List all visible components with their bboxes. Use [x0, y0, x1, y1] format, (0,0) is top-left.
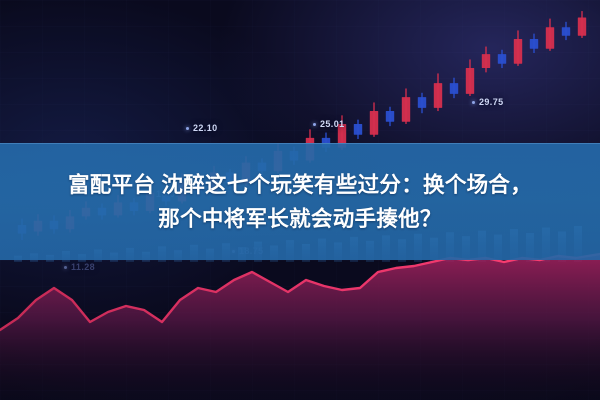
price-label-value: 22.10 — [193, 123, 218, 133]
price-label-value: 11.28 — [71, 262, 95, 272]
price-marker-dot — [64, 266, 67, 269]
headline-text-block: 富配平台 沈醉这七个玩笑有些过分：换个场合， 那个中将军长就会动手揍他？ — [0, 143, 600, 260]
chart-banner: 22.1025.0129.7510.0718.7511.28 富配平台 沈醉这七… — [0, 0, 600, 400]
area-fill — [0, 254, 600, 400]
price-label-value: 29.75 — [479, 97, 504, 107]
label-29-75: 29.75 — [472, 97, 504, 107]
price-marker-dot — [186, 127, 189, 130]
label-22-10: 22.10 — [186, 123, 218, 133]
price-marker-dot — [313, 123, 316, 126]
label-11-28: 11.28 — [64, 262, 95, 272]
headline-line-2: 那个中将军长就会动手揍他？ — [158, 204, 441, 234]
price-label-value: 25.01 — [320, 119, 345, 129]
price-marker-dot — [472, 101, 475, 104]
label-25-01: 25.01 — [313, 119, 345, 129]
headline-line-1: 富配平台 沈醉这七个玩笑有些过分：换个场合， — [68, 170, 532, 200]
